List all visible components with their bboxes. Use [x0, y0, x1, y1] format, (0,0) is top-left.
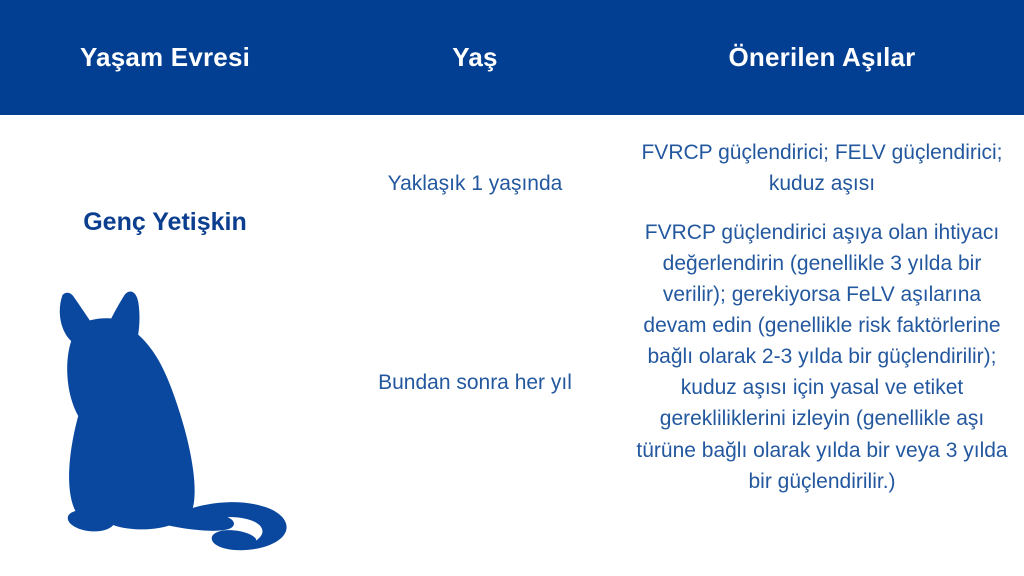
age-value-row-2: Bundan sonra her yıl — [330, 368, 620, 398]
table-header-band: Yaşam Evresi Yaş Önerilen Aşılar — [0, 0, 1024, 115]
vaccines-value-row-2: FVRCP güçlendirici aşıya olan ihtiyacı d… — [634, 217, 1010, 497]
column-header-life-stage: Yaşam Evresi — [0, 0, 330, 115]
table-header-row: Yaşam Evresi Yaş Önerilen Aşılar — [0, 0, 1024, 115]
column-header-age: Yaş — [330, 0, 620, 115]
cell-vaccines-column: FVRCP güçlendirici; FELV güçlendirici; k… — [620, 115, 1024, 576]
vaccination-schedule-table: Yaşam Evresi Yaş Önerilen Aşılar Genç Ye… — [0, 0, 1024, 576]
column-header-recommended-vaccines: Önerilen Aşılar — [620, 0, 1024, 115]
column-header-life-stage-label: Yaşam Evresi — [80, 42, 250, 73]
cell-age-column: Yaklaşık 1 yaşında Bundan sonra her yıl — [330, 115, 620, 576]
age-value-row-1: Yaklaşık 1 yaşında — [330, 169, 620, 199]
table-body: Genç Yetişkin Yaklaşık 1 yaşında Bundan … — [0, 115, 1024, 576]
cell-life-stage: Genç Yetişkin — [0, 115, 330, 576]
column-header-age-label: Yaş — [452, 42, 497, 73]
sitting-cat-silhouette-icon — [18, 265, 318, 565]
column-header-recommended-vaccines-label: Önerilen Aşılar — [729, 42, 916, 73]
vaccines-value-row-1: FVRCP güçlendirici; FELV güçlendirici; k… — [634, 137, 1010, 199]
life-stage-label: Genç Yetişkin — [0, 207, 330, 238]
